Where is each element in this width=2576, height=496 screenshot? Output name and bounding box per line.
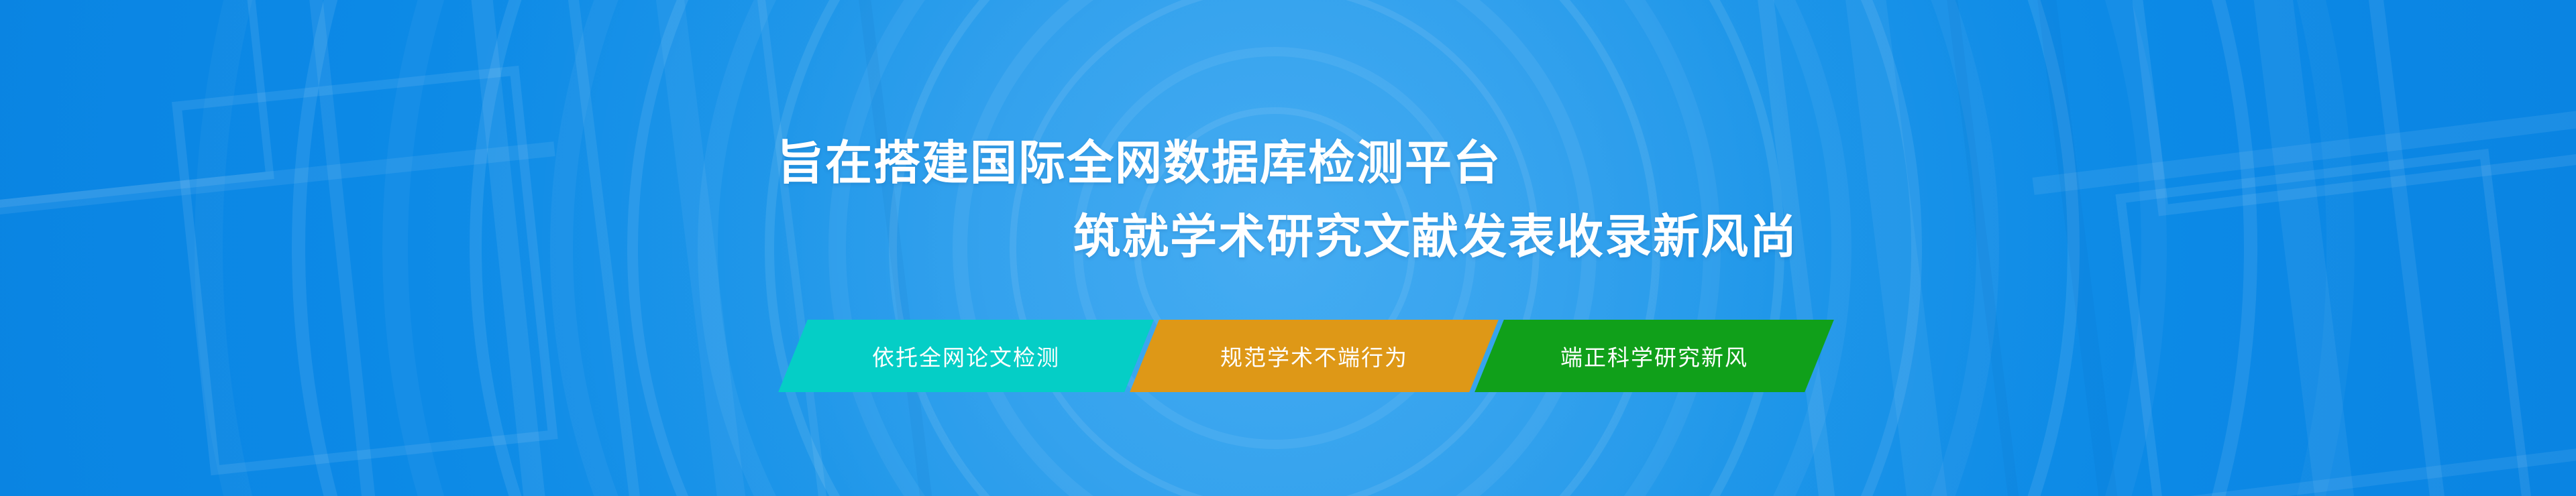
tag-paper-detection[interactable]: 依托全网论文检测 (778, 320, 1154, 392)
headline-line-1: 旨在搭建国际全网数据库检测平台 (777, 139, 1501, 186)
tag-research-ethos-label: 端正科学研究新风 (1560, 340, 1748, 372)
tag-academic-misconduct-label: 规范学术不端行为 (1220, 340, 1408, 372)
tag-academic-misconduct[interactable]: 规范学术不端行为 (1130, 320, 1499, 392)
feature-tag-band: 依托全网论文检测 规范学术不端行为 端正科学研究新风 (778, 320, 1819, 392)
promo-banner: 旨在搭建国际全网数据库检测平台 筑就学术研究文献发表收录新风尚 依托全网论文检测… (0, 0, 2576, 496)
headline-line-2: 筑就学术研究文献发表收录新风尚 (1073, 213, 1798, 260)
tag-research-ethos[interactable]: 端正科学研究新风 (1474, 320, 1834, 392)
tag-paper-detection-label: 依托全网论文检测 (872, 340, 1060, 372)
headline-block: 旨在搭建国际全网数据库检测平台 筑就学术研究文献发表收录新风尚 (0, 0, 2576, 496)
